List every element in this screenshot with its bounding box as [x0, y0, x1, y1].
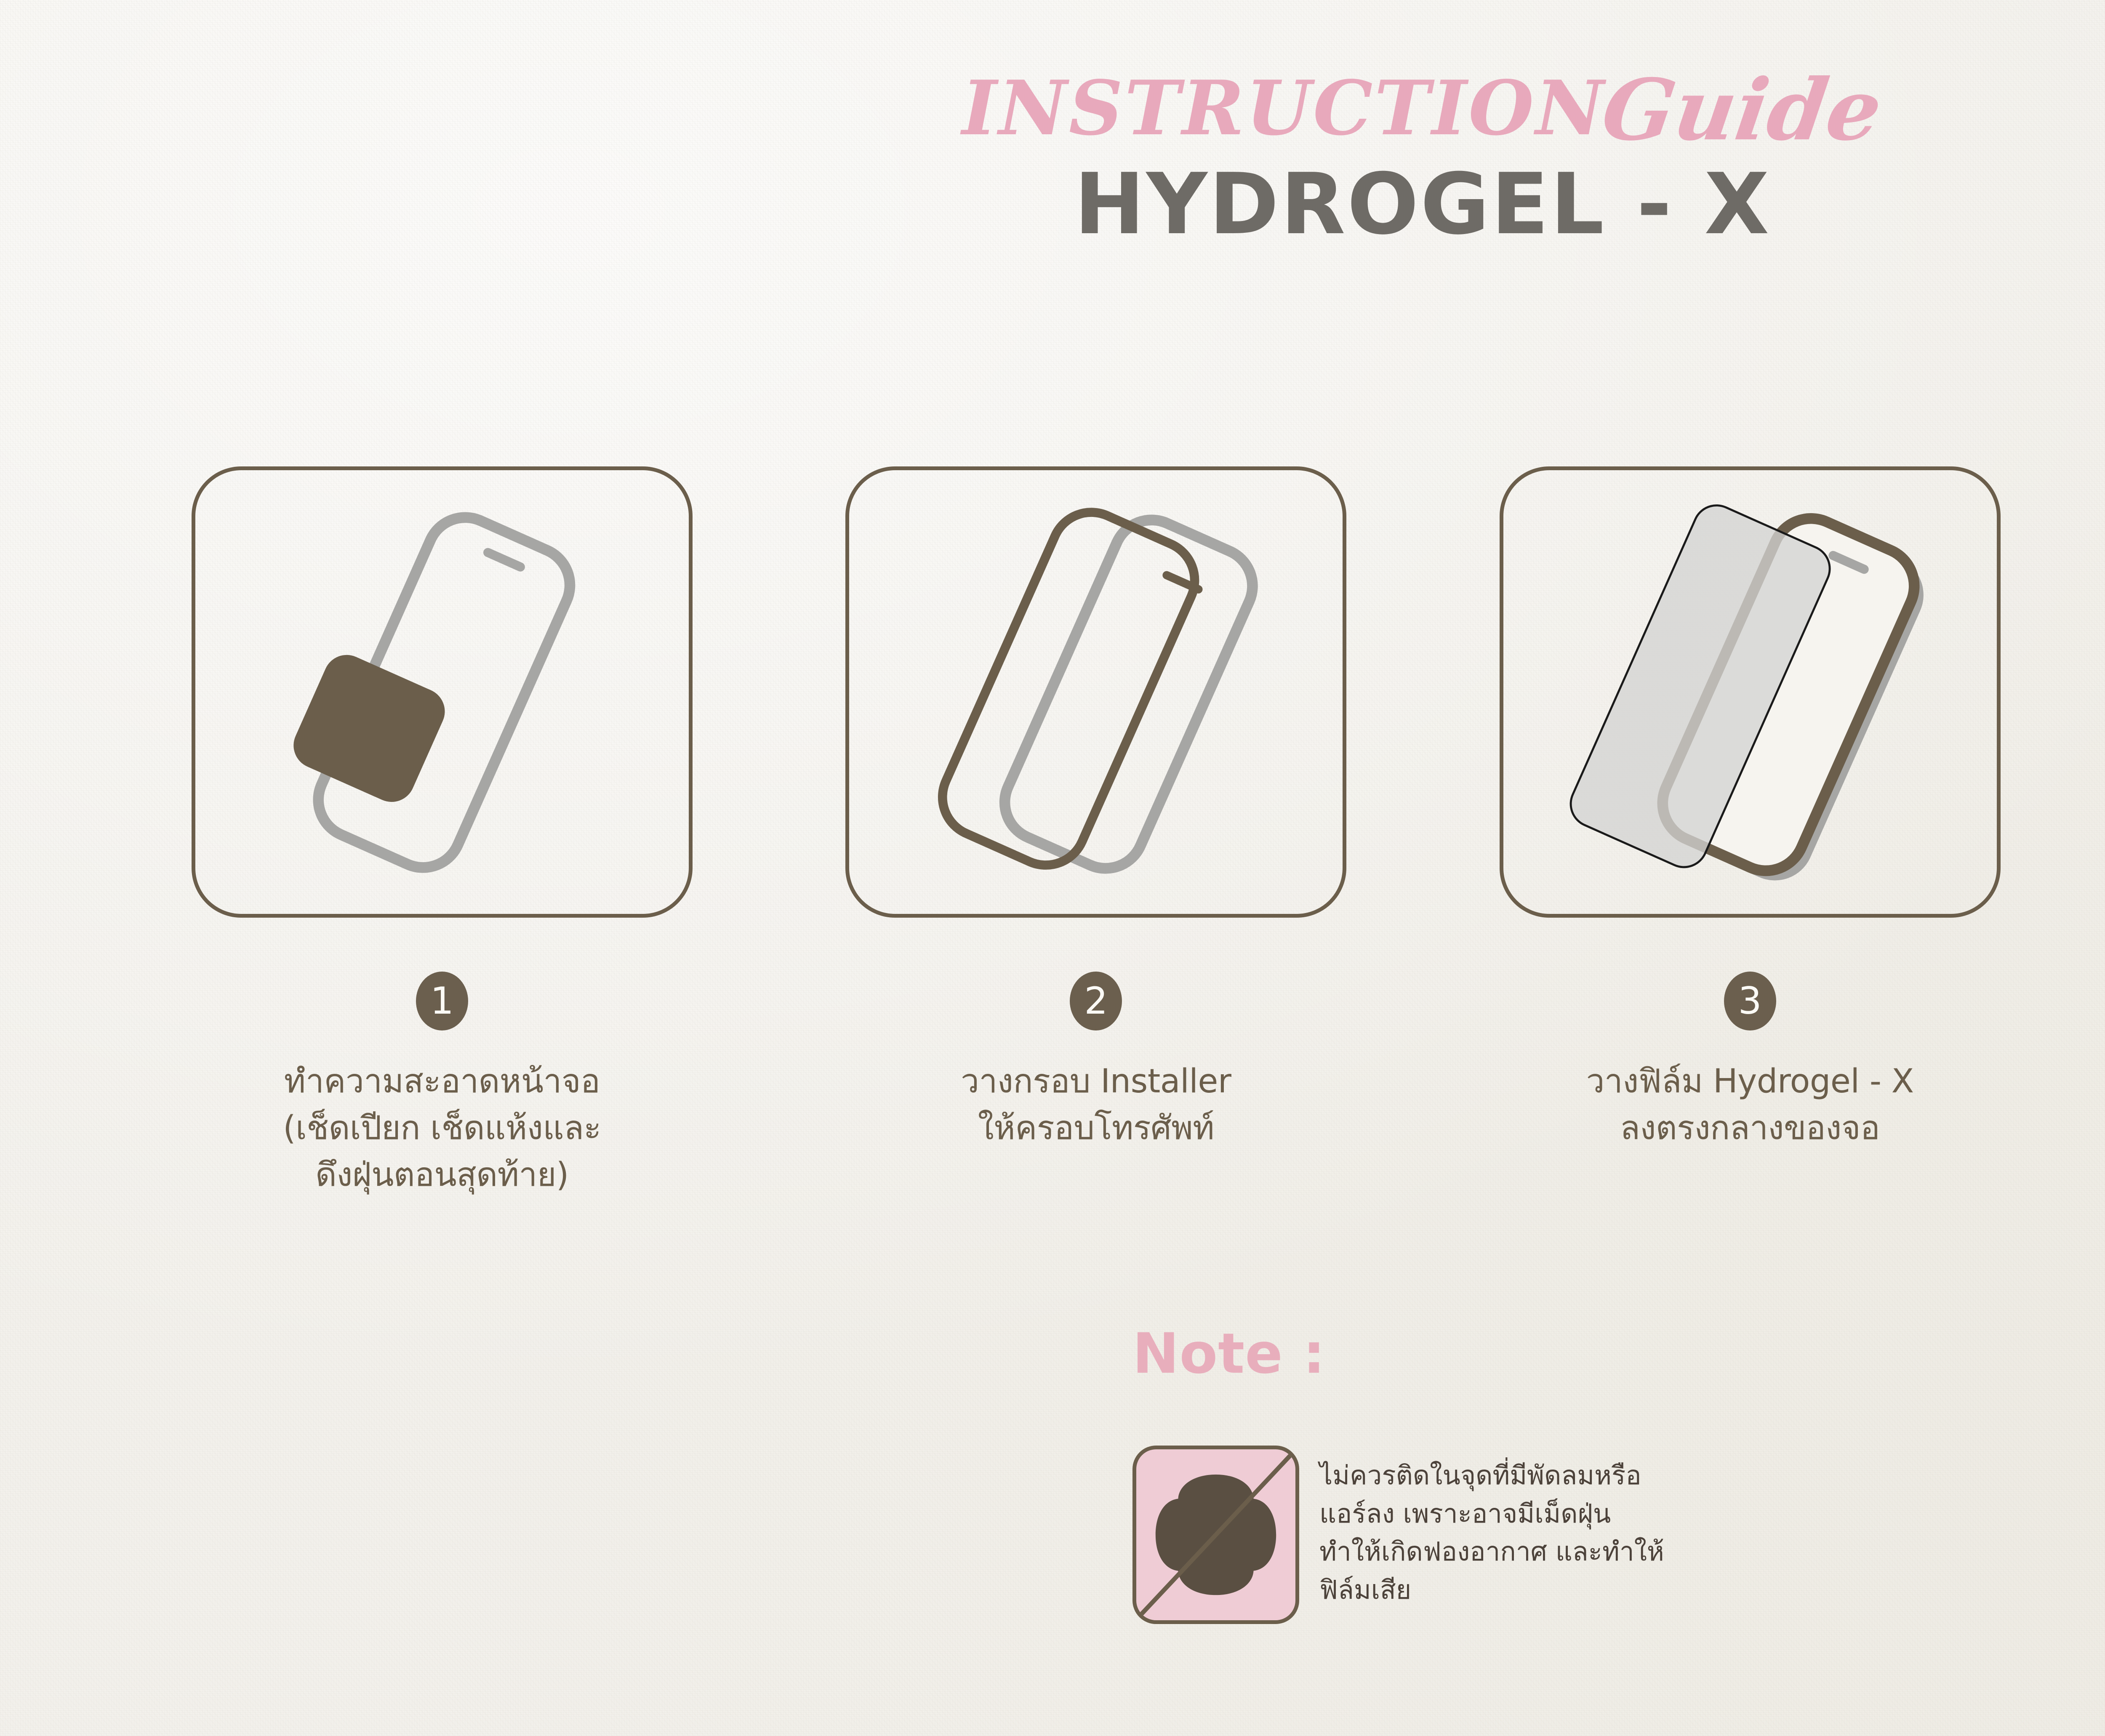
script-title-instruction: INSTRUCTION — [962, 64, 1606, 152]
script-title-guide: Guide — [1597, 68, 1887, 152]
step-1-badge: 1 — [416, 972, 468, 1030]
page-header: INSTRUCTIONGuide HYDROGEL - X — [0, 63, 2105, 247]
step-2-caption-line-1: วางกรอบ Installer — [961, 1058, 1231, 1105]
no-fan-icon — [1132, 1446, 1299, 1624]
step-3-illustration-card — [1500, 466, 2001, 918]
step-3: 3 วางฟิล์ม Hydrogel - X ลงตรงกลางของจอ — [1500, 466, 2001, 1198]
step-3-badge: 3 — [1724, 972, 1776, 1030]
phone-outline-icon — [993, 508, 1265, 880]
note-text-line-3: ทำให้เกิดฟองอากาศ และทำให้ — [1319, 1533, 1664, 1571]
step-2: 2 วางกรอบ Installer ให้ครอบโทรศัพท์ — [845, 466, 1346, 1198]
step-1-caption-line-1: ทำความสะอาดหน้าจอ — [283, 1058, 601, 1105]
step-1-caption-line-2: (เช็ดเปียก เช็ดแห้งและ — [283, 1105, 601, 1152]
note-body: ไม่ควรติดในจุดที่มีพัดลมหรือ แอร์ลง เพรา… — [1132, 1446, 1664, 1624]
note-text-line-4: ฟิล์มเสีย — [1319, 1571, 1664, 1609]
steps-row: 1 ทำความสะอาดหน้าจอ (เช็ดเปียก เช็ดแห้งแ… — [192, 466, 2105, 1198]
installer-frame-icon — [930, 500, 1215, 881]
script-title: INSTRUCTIONGuide — [0, 63, 2105, 147]
step-2-caption-line-2: ให้ครอบโทรศัพท์ — [961, 1105, 1231, 1152]
step-1-caption-line-3: ดึงฝุ่นตอนสุดท้าย) — [283, 1152, 601, 1198]
note-heading: Note : — [1132, 1326, 1326, 1382]
step-2-caption: วางกรอบ Installer ให้ครอบโทรศัพท์ — [961, 1058, 1231, 1152]
instruction-guide-page: INSTRUCTIONGuide HYDROGEL - X 1 ทำ — [0, 0, 2105, 1736]
step-1-illustration-card — [192, 466, 693, 918]
step-3-caption-line-1: วางฟิล์ม Hydrogel - X — [1586, 1058, 1914, 1105]
note-text-line-2: แอร์ลง เพราะอาจมีเม็ดฝุ่น — [1319, 1495, 1664, 1533]
note-text: ไม่ควรติดในจุดที่มีพัดลมหรือ แอร์ลง เพรา… — [1319, 1446, 1664, 1609]
step-1-caption: ทำความสะอาดหน้าจอ (เช็ดเปียก เช็ดแห้งและ… — [283, 1058, 601, 1198]
step-3-caption-line-2: ลงตรงกลางของจอ — [1586, 1105, 1914, 1152]
step-2-illustration-card — [845, 466, 1346, 918]
step-2-badge: 2 — [1070, 972, 1122, 1030]
note-text-line-1: ไม่ควรติดในจุดที่มีพัดลมหรือ — [1319, 1456, 1664, 1495]
page-title: HYDROGEL - X — [0, 162, 2105, 247]
cleaning-cloth-icon — [286, 647, 452, 809]
step-1: 1 ทำความสะอาดหน้าจอ (เช็ดเปียก เช็ดแห้งแ… — [192, 466, 693, 1198]
step-3-caption: วางฟิล์ม Hydrogel - X ลงตรงกลางของจอ — [1586, 1058, 1914, 1152]
